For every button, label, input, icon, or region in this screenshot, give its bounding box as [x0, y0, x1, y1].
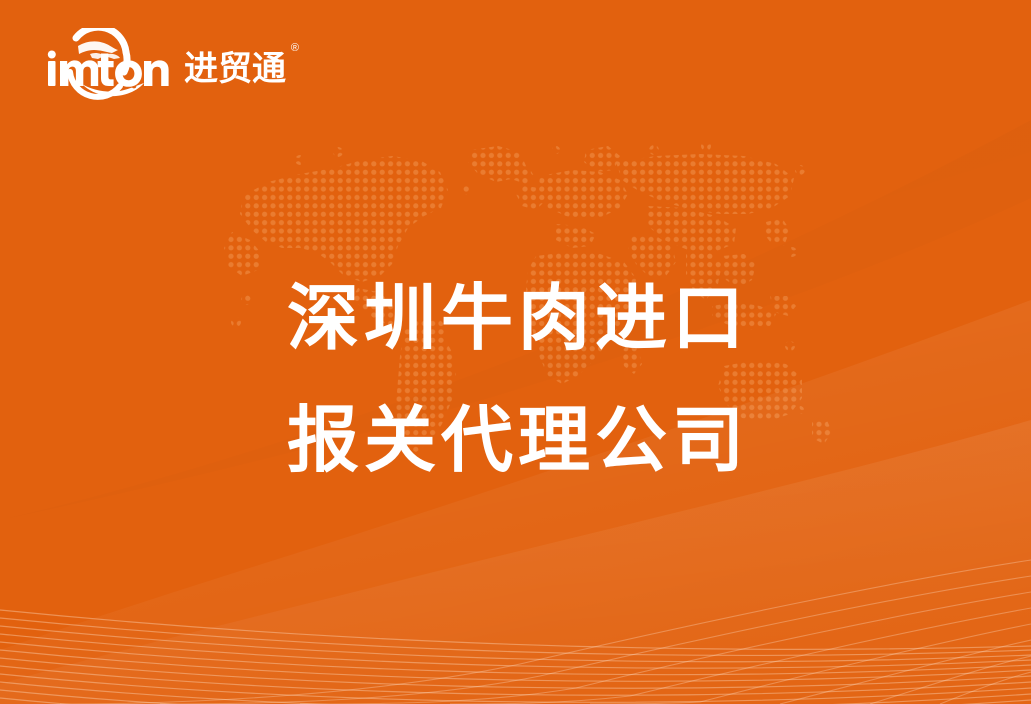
registered-trademark-icon: ® — [291, 43, 299, 54]
promo-banner: 进贸通® 深圳牛肉进口 报关代理公司 — [0, 0, 1031, 704]
headline-line-1: 深圳牛肉进口 — [0, 258, 1031, 380]
logo-mark — [38, 28, 190, 100]
globe-logo-icon — [38, 28, 190, 100]
headline-line-2: 报关代理公司 — [0, 380, 1031, 502]
brand-logo[interactable]: 进贸通® — [38, 28, 286, 100]
logo-chinese-label: 进贸通 — [184, 50, 286, 88]
logo-chinese-text: 进贸通® — [184, 52, 286, 86]
page-title: 深圳牛肉进口 报关代理公司 — [0, 258, 1031, 502]
